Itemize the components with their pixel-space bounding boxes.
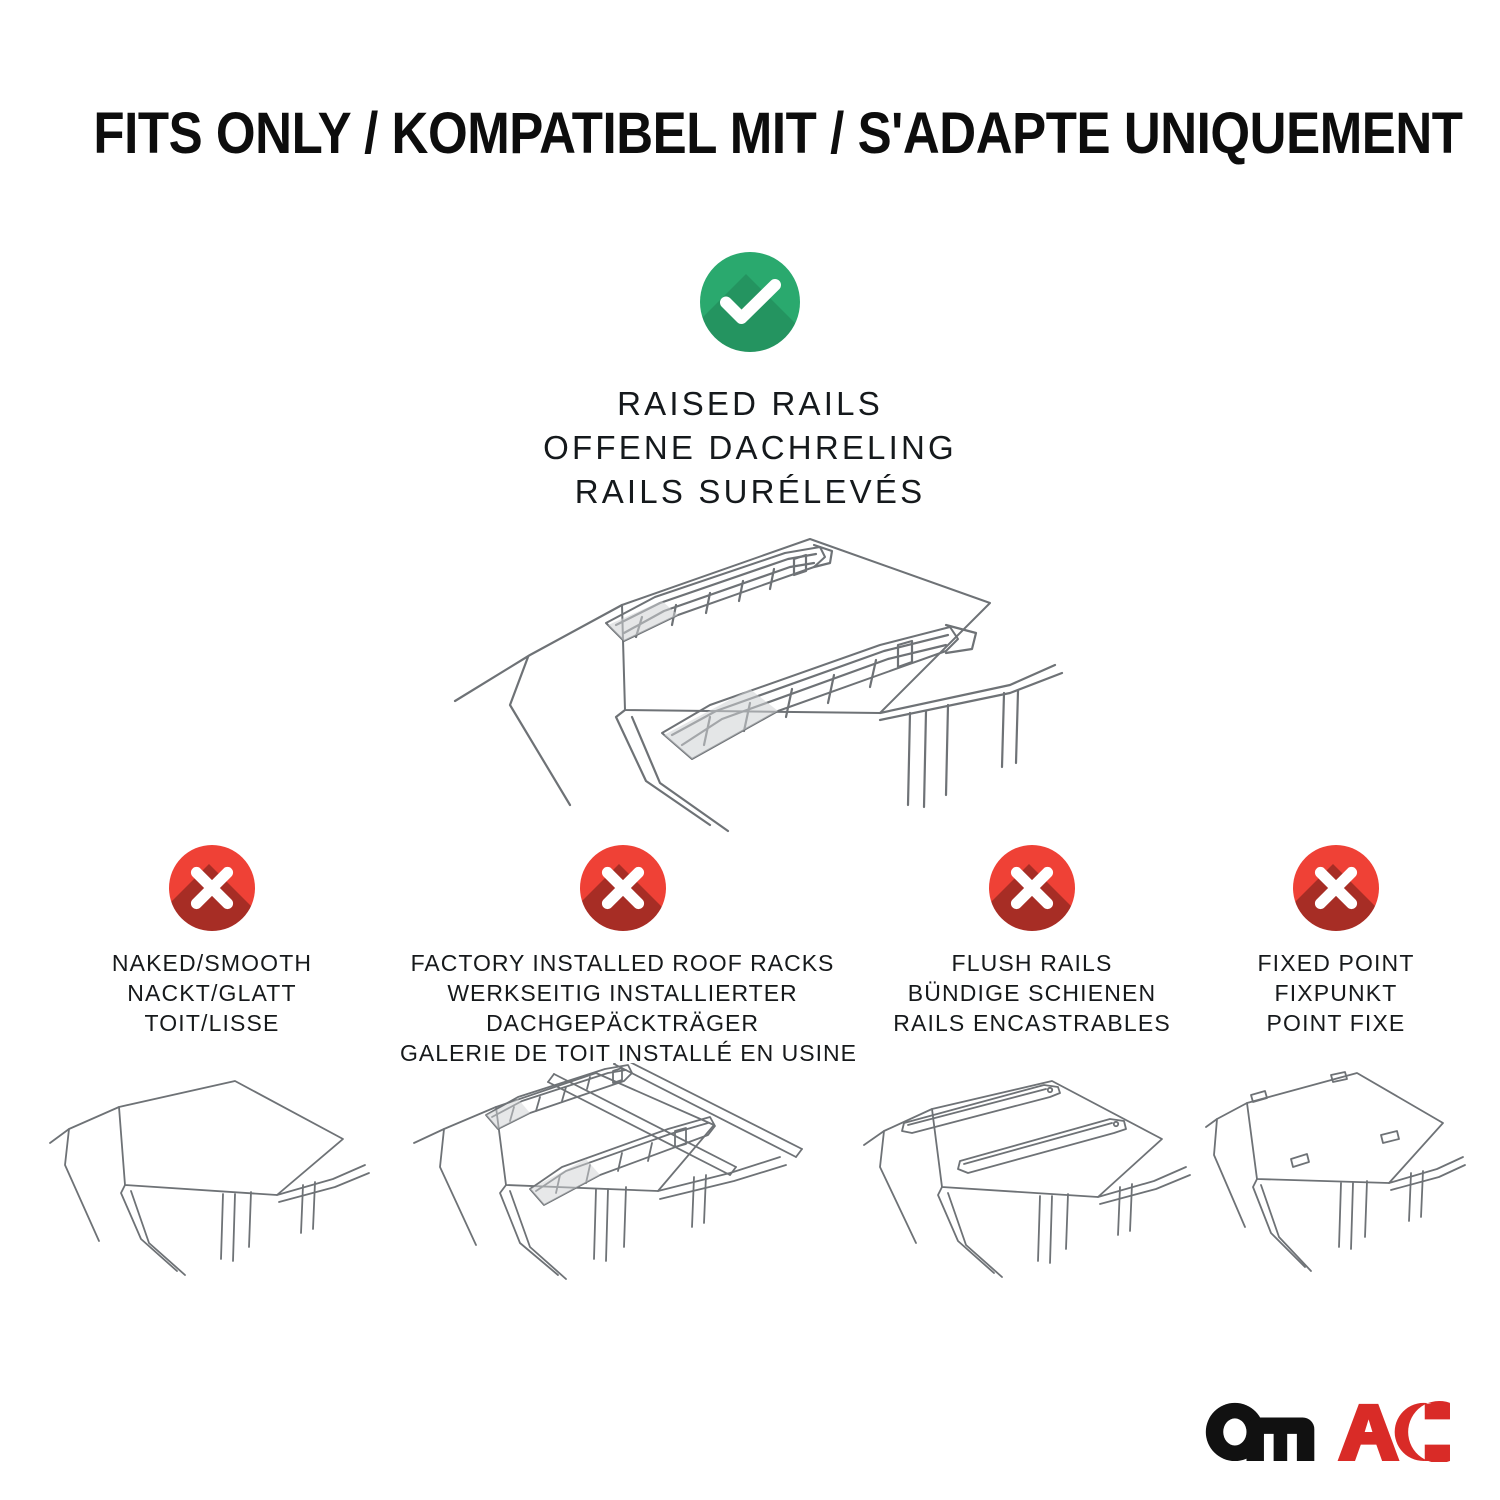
- check-circle-icon: [700, 252, 800, 352]
- option-label-en: NAKED/SMOOTH: [47, 949, 377, 979]
- option-labels: FACTORY INSTALLED ROOF RACKS WERKSEITIG …: [400, 949, 845, 1069]
- option-flush-rails: FLUSH RAILS BÜNDIGE SCHIENEN RAILS ENCAS…: [862, 845, 1202, 1291]
- option-naked-smooth: NAKED/SMOOTH NACKT/GLATT TOIT/LISSE: [47, 845, 377, 1291]
- option-label-de: FIXPUNKT: [1205, 979, 1467, 1009]
- option-fixed-point: FIXED POINT FIXPUNKT POINT FIXE: [1205, 845, 1467, 1291]
- option-factory-installed-roof-racks: FACTORY INSTALLED ROOF RACKS WERKSEITIG …: [400, 845, 845, 1293]
- x-circle-icon: [1293, 845, 1379, 931]
- option-label-de-1: WERKSEITIG INSTALLIERTER: [400, 979, 845, 1009]
- page-title-text: FITS ONLY / KOMPATIBEL MIT / S'ADAPTE UN…: [93, 104, 1462, 165]
- option-labels: NAKED/SMOOTH NACKT/GLATT TOIT/LISSE: [47, 949, 377, 1039]
- approved-section: RAISED RAILS OFFENE DACHRELING RAILS SUR…: [0, 252, 1500, 514]
- approved-label-en: RAISED RAILS: [0, 382, 1500, 426]
- car-roof-raised-rails-drawing: [410, 505, 1090, 835]
- option-label-de-2: DACHGEPÄCKTRÄGER: [400, 1009, 845, 1039]
- option-label-de: NACKT/GLATT: [47, 979, 377, 1009]
- x-circle-icon: [580, 845, 666, 931]
- car-roof-flush-rails-drawing: [862, 1061, 1202, 1291]
- logo-letter-c: [1395, 1401, 1450, 1462]
- car-roof-naked-smooth-drawing: [47, 1061, 377, 1291]
- page-title: FITS ONLY / KOMPATIBEL MIT / S'ADAPTE UN…: [0, 104, 1500, 165]
- option-label-fr: TOIT/LISSE: [47, 1009, 377, 1039]
- fitment-infographic-page: { "header": { "title": "FITS ONLY / KOMP…: [0, 0, 1500, 1500]
- option-label-en: FLUSH RAILS: [862, 949, 1202, 979]
- option-label-en: FACTORY INSTALLED ROOF RACKS: [400, 949, 845, 979]
- car-roof-fixed-point-drawing: [1205, 1061, 1467, 1291]
- option-label-en: FIXED POINT: [1205, 949, 1467, 979]
- approved-labels: RAISED RAILS OFFENE DACHRELING RAILS SUR…: [0, 382, 1500, 514]
- option-label-fr: POINT FIXE: [1205, 1009, 1467, 1039]
- logo-letter-a: [1338, 1404, 1400, 1461]
- incompatible-options-grid: NAKED/SMOOTH NACKT/GLATT TOIT/LISSE: [0, 845, 1500, 1315]
- omac-logo: [1200, 1400, 1452, 1462]
- option-label-fr: RAILS ENCASTRABLES: [862, 1009, 1202, 1039]
- car-roof-factory-crossbars-drawing: [400, 1063, 845, 1293]
- option-label-de: BÜNDIGE SCHIENEN: [862, 979, 1202, 1009]
- option-labels: FLUSH RAILS BÜNDIGE SCHIENEN RAILS ENCAS…: [862, 949, 1202, 1039]
- option-label-fr: GALERIE DE TOIT INSTALLÉ EN USINE: [400, 1039, 845, 1069]
- x-circle-icon: [989, 845, 1075, 931]
- x-circle-icon: [169, 845, 255, 931]
- option-labels: FIXED POINT FIXPUNKT POINT FIXE: [1205, 949, 1467, 1039]
- logo-letter-m: [1247, 1417, 1315, 1461]
- approved-label-de: OFFENE DACHRELING: [0, 426, 1500, 470]
